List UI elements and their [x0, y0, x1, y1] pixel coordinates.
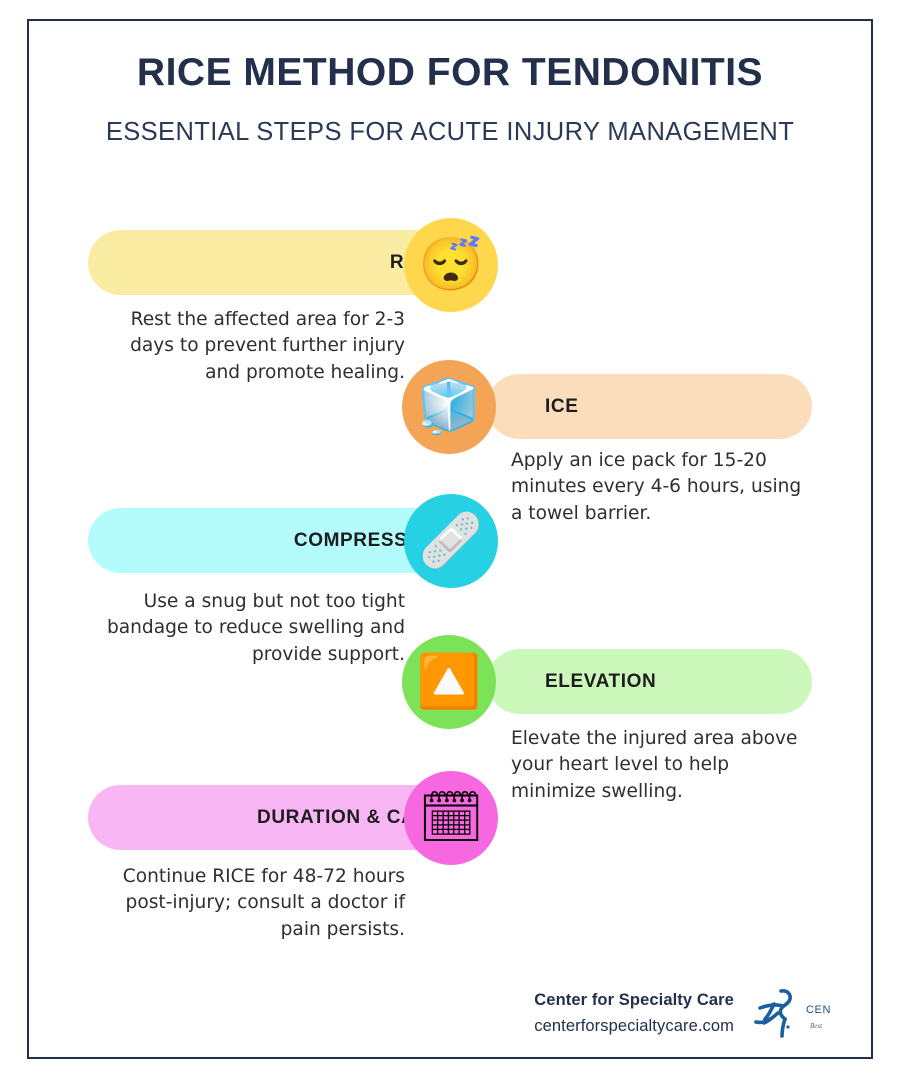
page-title: RICE METHOD FOR TENDONITIS	[29, 50, 871, 96]
up-arrow-button-icon: 🔼	[417, 656, 482, 708]
ice-cube-icon: 🧊	[417, 381, 482, 433]
step-label: ELEVATION	[487, 671, 656, 693]
step-icon-badge: 🔼	[402, 635, 496, 729]
step-bar: ELEVATION	[487, 649, 812, 714]
brand-name: Center for Specialty Care	[534, 991, 734, 1010]
poster-footer: Center for Specialty Care centerforspeci…	[440, 980, 860, 1046]
step-icon-badge: 🩹	[404, 494, 498, 588]
adhesive-bandage-icon: 🩹	[419, 515, 484, 567]
logo-wordmark: CEN	[806, 1004, 831, 1016]
sleeping-face-icon: 😴	[419, 239, 484, 291]
logo-tagline: Best	[810, 1022, 822, 1030]
step-description: Apply an ice pack for 15-20 minutes ever…	[511, 448, 811, 527]
brand-logo: CEN Best	[748, 980, 860, 1046]
step-label: ICE	[487, 396, 578, 418]
brand-url[interactable]: centerforspecialtycare.com	[534, 1017, 734, 1036]
running-person-icon	[748, 982, 810, 1046]
step-icon-badge: 😴	[404, 218, 498, 312]
step-description: Elevate the injured area above your hear…	[511, 726, 811, 805]
step-description: Use a snug but not too tight bandage to …	[95, 589, 405, 668]
step-icon-badge: 🧊	[402, 360, 496, 454]
step-bar: ICE	[487, 374, 812, 439]
footer-brand-block: Center for Specialty Care centerforspeci…	[534, 991, 734, 1036]
step-description: Continue RICE for 48-72 hours post-injur…	[95, 864, 405, 943]
step-icon-badge: 🗓	[404, 771, 498, 865]
infographic-poster: RICE METHOD FOR TENDONITIS ESSENTIAL STE…	[0, 0, 900, 1080]
poster-header: RICE METHOD FOR TENDONITIS ESSENTIAL STE…	[29, 50, 871, 148]
step-description: Rest the affected area for 2-3 days to p…	[95, 307, 405, 386]
page-subtitle: ESSENTIAL STEPS FOR ACUTE INJURY MANAGEM…	[29, 117, 871, 148]
spiral-calendar-icon: 🗓	[418, 792, 484, 844]
